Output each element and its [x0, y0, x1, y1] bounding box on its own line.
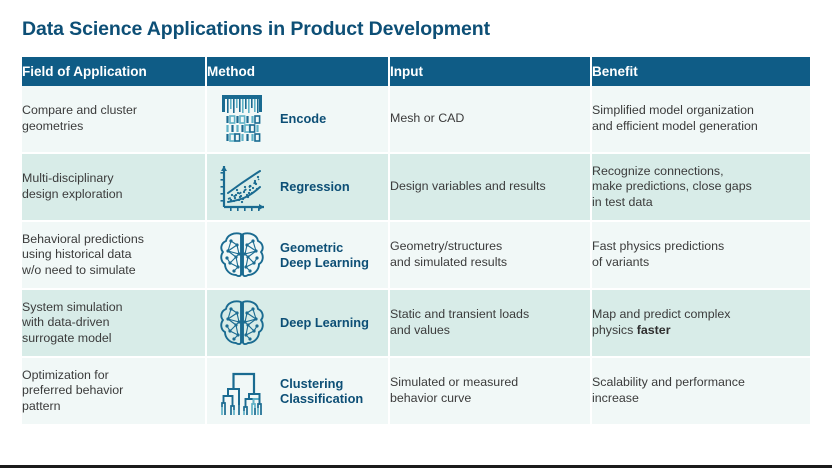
method-label: Deep Learning — [280, 315, 369, 331]
table-header-row: Field of Application Method Input Benefi… — [22, 57, 810, 86]
method-label-line: Encode — [280, 111, 326, 127]
benefit-line: Simplified model organization — [592, 103, 810, 119]
input-line: behavior curve — [390, 391, 590, 407]
method-wrapper: Encode — [213, 90, 382, 148]
benefit-line: Map and predict complex — [592, 307, 810, 323]
benefit-line: physics faster — [592, 323, 810, 339]
benefit-line: Recognize connections, — [592, 164, 810, 180]
header-input: Input — [389, 57, 591, 86]
table-row: Multi-disciplinarydesign explorationRegr… — [22, 153, 810, 221]
benefit-line: Fast physics predictions — [592, 239, 810, 255]
method-label-line: Classification — [280, 391, 363, 407]
method-label-line: Clustering — [280, 376, 363, 392]
field-line: pattern — [22, 399, 205, 415]
field-line: with data-driven — [22, 315, 205, 331]
benefit-emphasis: faster — [637, 323, 671, 337]
method-label-line: Regression — [280, 179, 350, 195]
dendrogram-cluster-icon — [213, 362, 271, 420]
field-line: Multi-disciplinary — [22, 171, 205, 187]
cell-benefit: Simplified model organizationand efficie… — [591, 86, 810, 153]
cell-method: Deep Learning — [206, 289, 389, 357]
method-label: GeometricDeep Learning — [280, 240, 369, 271]
cell-field-of-application: Optimization forpreferred behaviorpatter… — [22, 357, 206, 424]
cell-method: Encode — [206, 86, 389, 153]
benefit-line: and efficient model generation — [592, 119, 810, 135]
input-line: Mesh or CAD — [390, 111, 590, 127]
cell-method: GeometricDeep Learning — [206, 221, 389, 289]
input-line: Static and transient loads — [390, 307, 590, 323]
method-label-line: Geometric — [280, 240, 369, 256]
field-line: design exploration — [22, 187, 205, 203]
cell-field-of-application: Compare and clustergeometries — [22, 86, 206, 153]
brain-network-icon — [213, 226, 271, 284]
input-line: Design variables and results — [390, 179, 590, 195]
benefit-line: make predictions, close gaps — [592, 179, 810, 195]
cell-input: Simulated or measuredbehavior curve — [389, 357, 591, 424]
method-wrapper: ClusteringClassification — [213, 362, 382, 420]
cell-input: Design variables and results — [389, 153, 591, 221]
table-row: Behavioral predictionsusing historical d… — [22, 221, 810, 289]
cell-input: Mesh or CAD — [389, 86, 591, 153]
input-line: and values — [390, 323, 590, 339]
method-label-line: Deep Learning — [280, 255, 369, 271]
cell-method: Regression — [206, 153, 389, 221]
input-line: and simulated results — [390, 255, 590, 271]
cell-input: Static and transient loadsand values — [389, 289, 591, 357]
cell-method: ClusteringClassification — [206, 357, 389, 424]
header-method: Method — [206, 57, 389, 86]
cell-field-of-application: Multi-disciplinarydesign exploration — [22, 153, 206, 221]
data-science-applications-table: Field of Application Method Input Benefi… — [22, 57, 810, 424]
cell-input: Geometry/structuresand simulated results — [389, 221, 591, 289]
table-row: System simulationwith data-drivensurroga… — [22, 289, 810, 357]
header-benefit: Benefit — [591, 57, 810, 86]
field-line: System simulation — [22, 300, 205, 316]
method-wrapper: GeometricDeep Learning — [213, 226, 382, 284]
table-header: Field of Application Method Input Benefi… — [22, 57, 810, 86]
table-row: Compare and clustergeometriesEncodeMesh … — [22, 86, 810, 153]
method-label: Regression — [280, 179, 350, 195]
table-row: Optimization forpreferred behaviorpatter… — [22, 357, 810, 424]
method-label: Encode — [280, 111, 326, 127]
field-line: Behavioral predictions — [22, 232, 205, 248]
brain-network-icon — [213, 294, 271, 352]
cell-benefit: Fast physics predictionsof variants — [591, 221, 810, 289]
field-line: Optimization for — [22, 368, 205, 384]
cell-benefit: Recognize connections,make predictions, … — [591, 153, 810, 221]
barcode-binary-icon — [213, 90, 271, 148]
benefit-line: increase — [592, 391, 810, 407]
input-line: Simulated or measured — [390, 375, 590, 391]
cell-benefit: Map and predict complexphysics faster — [591, 289, 810, 357]
slide-canvas: Data Science Applications in Product Dev… — [0, 0, 832, 465]
field-line: geometries — [22, 119, 205, 135]
table-body: Compare and clustergeometriesEncodeMesh … — [22, 86, 810, 424]
field-line: surrogate model — [22, 331, 205, 347]
method-wrapper: Deep Learning — [213, 294, 382, 352]
cell-field-of-application: Behavioral predictionsusing historical d… — [22, 221, 206, 289]
field-line: Compare and cluster — [22, 103, 205, 119]
field-line: w/o need to simulate — [22, 263, 205, 279]
input-line: Geometry/structures — [390, 239, 590, 255]
benefit-line: of variants — [592, 255, 810, 271]
page-title: Data Science Applications in Product Dev… — [22, 18, 490, 41]
benefit-line: Scalability and performance — [592, 375, 810, 391]
scatter-regression-chart-icon — [213, 158, 271, 216]
method-label: ClusteringClassification — [280, 376, 363, 407]
cell-benefit: Scalability and performanceincrease — [591, 357, 810, 424]
field-line: preferred behavior — [22, 383, 205, 399]
method-label-line: Deep Learning — [280, 315, 369, 331]
cell-field-of-application: System simulationwith data-drivensurroga… — [22, 289, 206, 357]
benefit-line: in test data — [592, 195, 810, 211]
field-line: using historical data — [22, 247, 205, 263]
method-wrapper: Regression — [213, 158, 382, 216]
benefit-line-text: physics — [592, 323, 637, 337]
header-field-of-application: Field of Application — [22, 57, 206, 86]
